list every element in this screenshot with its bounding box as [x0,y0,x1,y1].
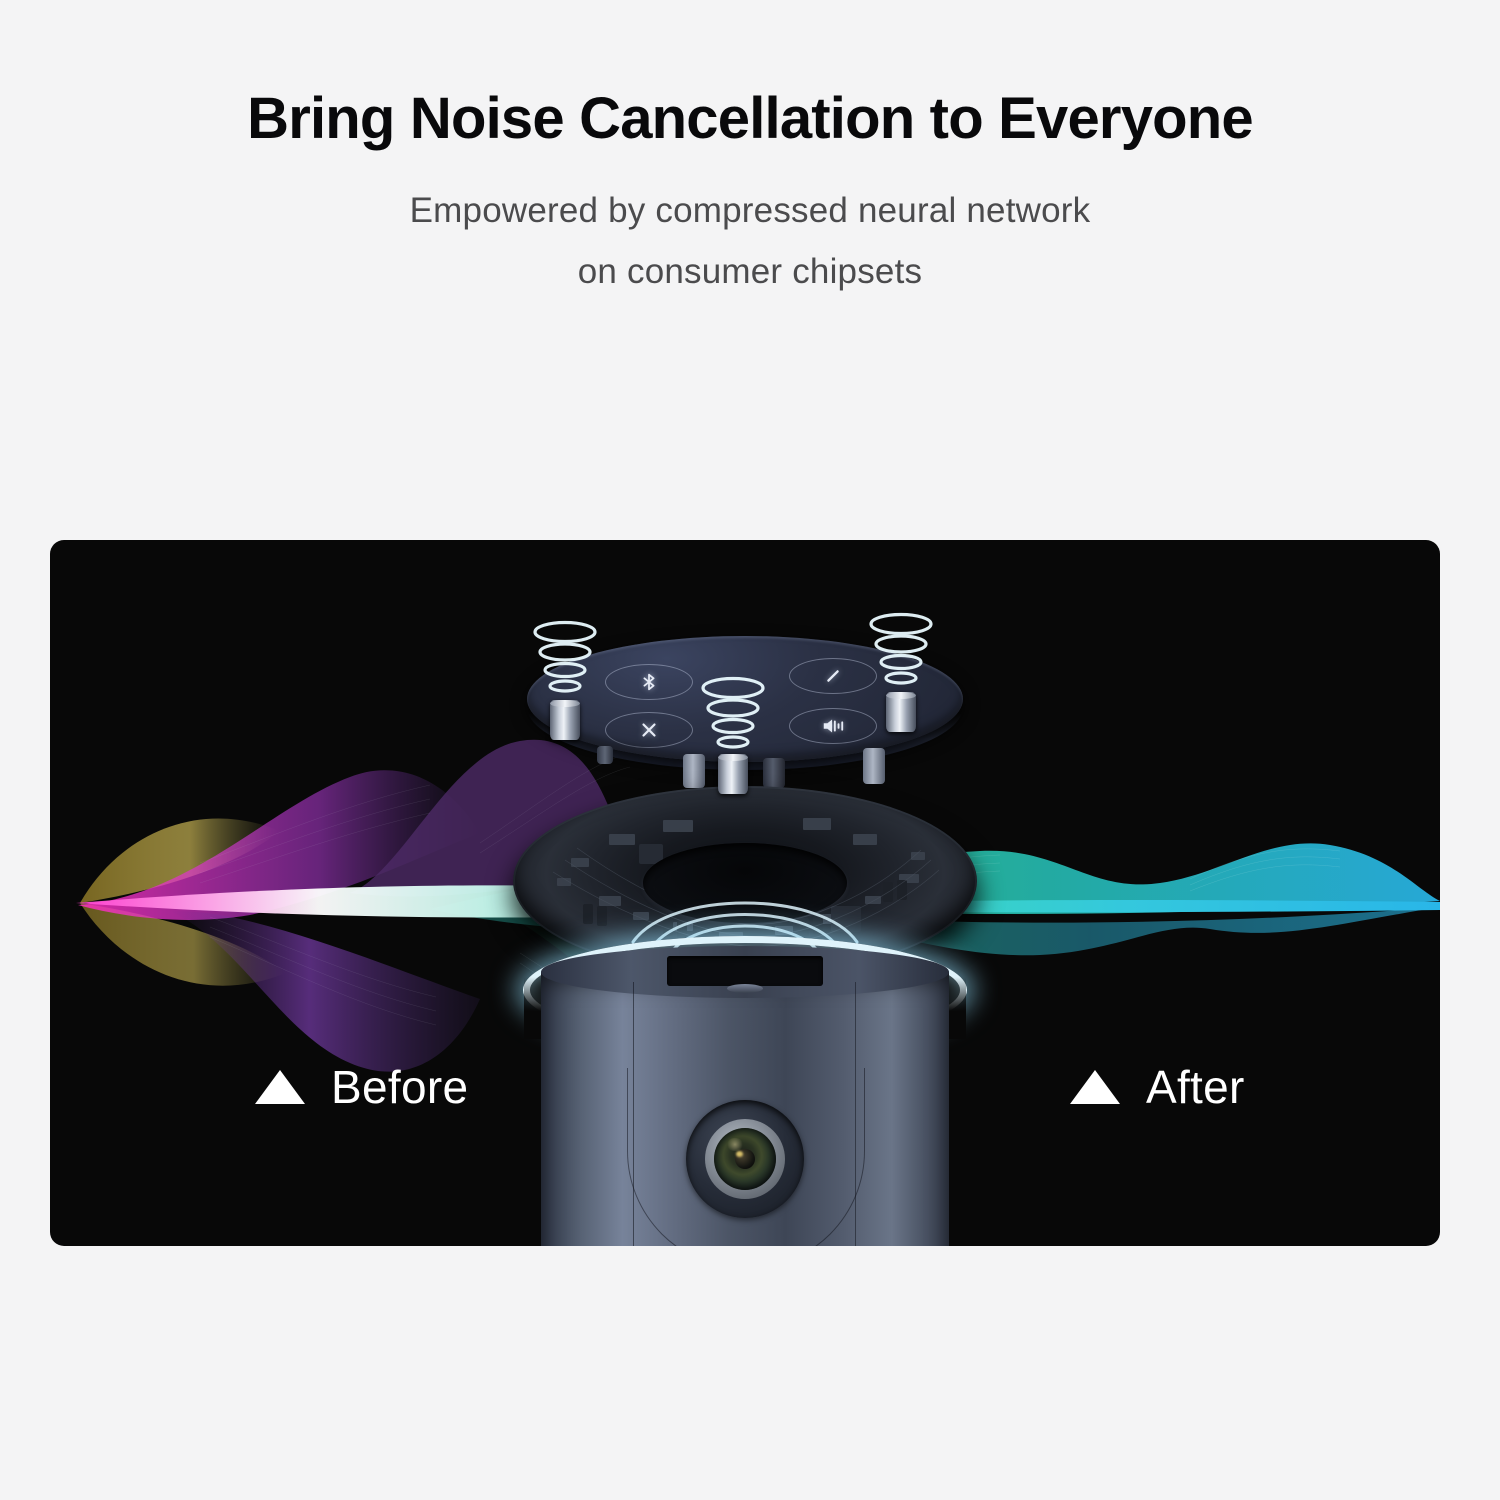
label-before-text: Before [331,1060,468,1114]
lens-barrel [705,1119,785,1199]
bluetooth-icon [638,671,660,693]
header: Bring Noise Cancellation to Everyone Emp… [0,0,1500,302]
mic-mute-button[interactable] [789,658,877,694]
subtitle-line-2: on consumer chipsets [250,242,1250,302]
speaker-grille [667,956,823,986]
lens-aperture [735,1149,755,1169]
mic-helix-icon [867,612,935,698]
triangle-marker-icon [1070,1070,1120,1104]
label-after-text: After [1146,1060,1245,1114]
microphone-left [541,620,589,740]
bluetooth-pair-button[interactable] [605,664,693,700]
triangle-marker-icon [255,1070,305,1104]
microphone-center [709,674,757,794]
x-icon [638,719,660,741]
volume-button[interactable] [789,708,877,744]
page-title: Bring Noise Cancellation to Everyone [0,0,1500,149]
subtitle-line-1: Empowered by compressed neural network [250,181,1250,241]
mic-helix-icon [699,674,767,760]
camera-lens [686,1100,804,1218]
page-subtitle: Empowered by compressed neural network o… [250,149,1250,301]
mic-slash-icon [821,665,845,687]
call-end-button[interactable] [605,712,693,748]
body-indicator [727,984,763,993]
standoff-post [863,748,885,784]
label-after: After [1070,1060,1245,1114]
mic-capsule [886,692,916,732]
speaker-icon [821,716,845,736]
marketing-banner: Bring Noise Cancellation to Everyone Emp… [0,0,1500,1500]
standoff-post [597,746,613,764]
standoff-post [763,758,785,788]
device-body [541,972,949,1246]
mic-capsule [550,700,580,740]
device-exploded-view [505,636,985,1246]
lens-glass [714,1128,776,1190]
mic-capsule [718,754,748,794]
mic-helix-icon [531,620,599,706]
label-before: Before [255,1060,468,1114]
product-stage: Before After [50,540,1440,1246]
microphone-right [877,612,925,732]
